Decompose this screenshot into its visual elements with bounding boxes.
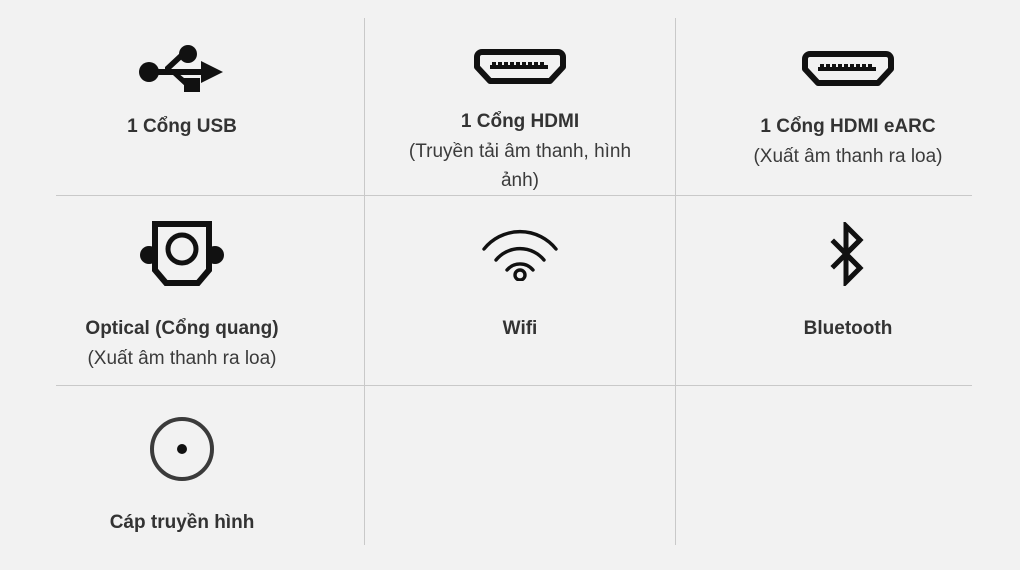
spec-cell-usb: 1 Cổng USB [0,18,364,195]
spec-cell-hdmi-earc: 1 Cổng HDMI eARC (Xuất âm thanh ra loa) [676,18,1020,195]
spec-cell-empty-2 [676,386,1020,545]
spec-cell-empty-1 [365,386,675,545]
spec-title: Cáp truyền hình [110,510,255,536]
usb-icon [139,38,225,100]
spec-subtitle: (Xuất âm thanh ra loa) [87,344,276,373]
wifi-icon [480,214,560,294]
spec-title: Bluetooth [804,316,893,342]
spec-cell-optical: Optical (Cổng quang) (Xuất âm thanh ra l… [0,196,364,385]
spec-cell-hdmi: 1 Cổng HDMI (Truyền tải âm thanh, hình ả… [365,18,675,195]
hdmi-icon [474,38,566,95]
optical-icon [140,214,224,294]
spec-title: 1 Cổng USB [127,114,237,140]
spec-title: Optical (Cổng quang) [85,316,278,342]
connectivity-spec-grid: 1 Cổng USB 1 Cổng HD [0,0,1020,570]
spec-title: 1 Cổng HDMI [461,109,579,135]
spec-subtitle: (Xuất âm thanh ra loa) [753,142,942,171]
hdmi-earc-icon [802,38,894,100]
spec-cell-bluetooth: Bluetooth [676,196,1020,385]
spec-cell-coaxial-cable: Cáp truyền hình [0,386,364,545]
spec-title: Wifi [503,316,538,342]
bluetooth-icon [826,214,870,294]
spec-cell-wifi: Wifi [365,196,675,385]
coaxial-cable-icon [148,410,216,488]
spec-subtitle: (Truyền tải âm thanh, hình ảnh) [390,137,650,195]
spec-title: 1 Cổng HDMI eARC [760,114,935,140]
